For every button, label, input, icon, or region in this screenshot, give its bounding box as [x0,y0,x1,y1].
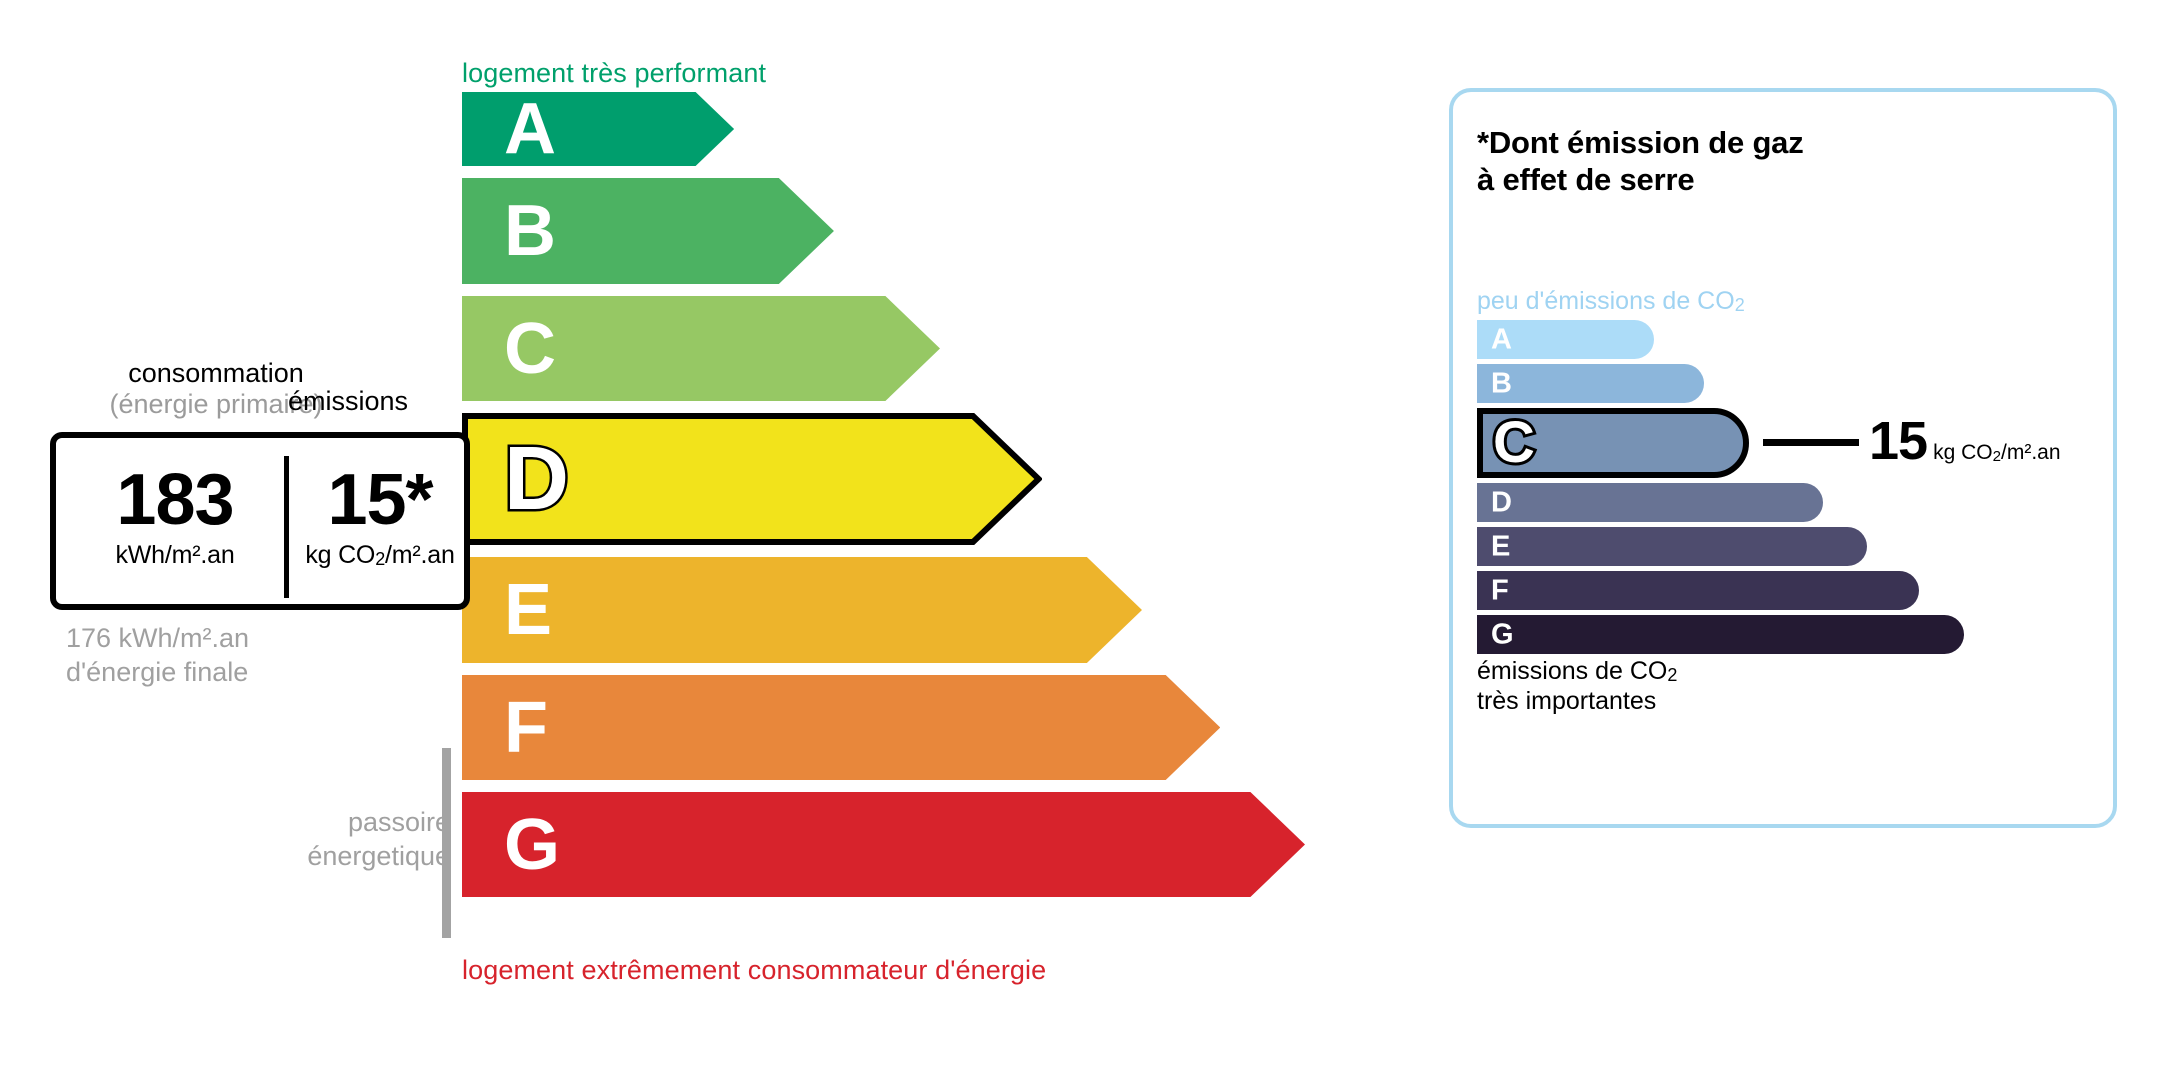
passoire-line1: passoire [348,807,450,837]
ges-callout-unit: kg CO2/m².an [1933,441,2060,464]
final-energy-line1: 176 kWh/m².an [66,623,249,653]
ges-bar-letter-g: G [1491,620,1514,649]
energy-band-letter-g: G [504,809,560,881]
energy-band-e: E [462,557,1142,663]
energy-band-letter-c: C [504,313,556,385]
emissions-label: émissions [288,386,408,417]
ges-bottom-line2: très importantes [1477,687,1656,715]
energy-band-letter-b: B [504,195,556,267]
energy-band-c: C [462,296,940,401]
energy-band-d: D [462,413,1042,545]
ges-bar-e [1477,527,1867,566]
ges-unit: kg CO2/m².an [292,541,468,570]
energy-value-cell: 183 kWh/m².an [68,466,282,570]
ges-panel: *Dont émission de gaz à effet de serre p… [1449,88,2117,828]
ladder-bottom-caption: logement extrêmement consommateur d'éner… [462,955,1046,986]
ges-bar-g [1477,615,1964,654]
energy-value: 183 [68,466,282,535]
energy-band-a: A [462,92,734,166]
dpe-diagram: logement très performant ABCDEFG consomm… [0,0,2169,1079]
value-divider [284,456,289,598]
energy-band-letter-f: F [504,692,548,764]
ges-bottom-line1: émissions de CO2 [1477,657,1677,685]
final-energy-line2: d'énergie finale [66,657,248,687]
ges-bar-letter-b: B [1491,369,1512,398]
ges-bar-letter-d: D [1491,488,1512,517]
ges-value: 15* [292,466,468,535]
energy-band-shape-a [462,92,734,166]
energy-band-shape-f [462,675,1220,780]
passoire-bracket [442,748,451,938]
ges-panel-title: *Dont émission de gaz à effet de serre [1477,124,1804,198]
ges-bar-f [1477,571,1919,610]
ges-bottom-caption: émissions de CO2 très importantes [1477,657,1677,716]
ges-bar-letter-e: E [1491,532,1510,561]
energy-band-shape-e [462,557,1142,663]
energy-band-f: F [462,675,1220,780]
consumption-label-main: consommation [128,358,304,388]
final-energy-note: 176 kWh/m².an d'énergie finale [66,622,249,690]
ges-top-caption: peu d'émissions de CO2 [1477,287,1745,316]
ges-value-leader-line [1763,439,1859,446]
energy-ladder: logement très performant ABCDEFG consomm… [0,0,1400,1079]
passoire-label: passoire énergetique [270,806,450,874]
ges-callout-number: 15 [1869,411,1927,471]
ges-bar-d [1477,483,1823,522]
energy-band-letter-d: D [504,434,569,524]
ladder-top-caption: logement très performant [462,58,766,89]
energy-band-b: B [462,178,834,284]
ges-bar-letter-a: A [1491,325,1512,354]
ges-title-line2: à effet de serre [1477,162,1694,197]
consumption-value-box: 183 kWh/m².an 15* kg CO2/m².an [50,432,470,610]
energy-unit: kWh/m².an [68,541,282,570]
passoire-line2: énergetique [307,841,450,871]
ges-bar-letter-c: C [1493,414,1535,472]
energy-band-letter-e: E [504,574,552,646]
ges-title-line1: *Dont émission de gaz [1477,125,1804,160]
ges-value-callout: 15kg CO2/m².an [1869,410,2061,472]
energy-band-g: G [462,792,1305,897]
ges-value-cell: 15* kg CO2/m².an [292,466,468,570]
ges-bar-letter-f: F [1491,576,1509,605]
energy-band-shape-g [462,792,1305,897]
energy-band-letter-a: A [504,93,556,165]
